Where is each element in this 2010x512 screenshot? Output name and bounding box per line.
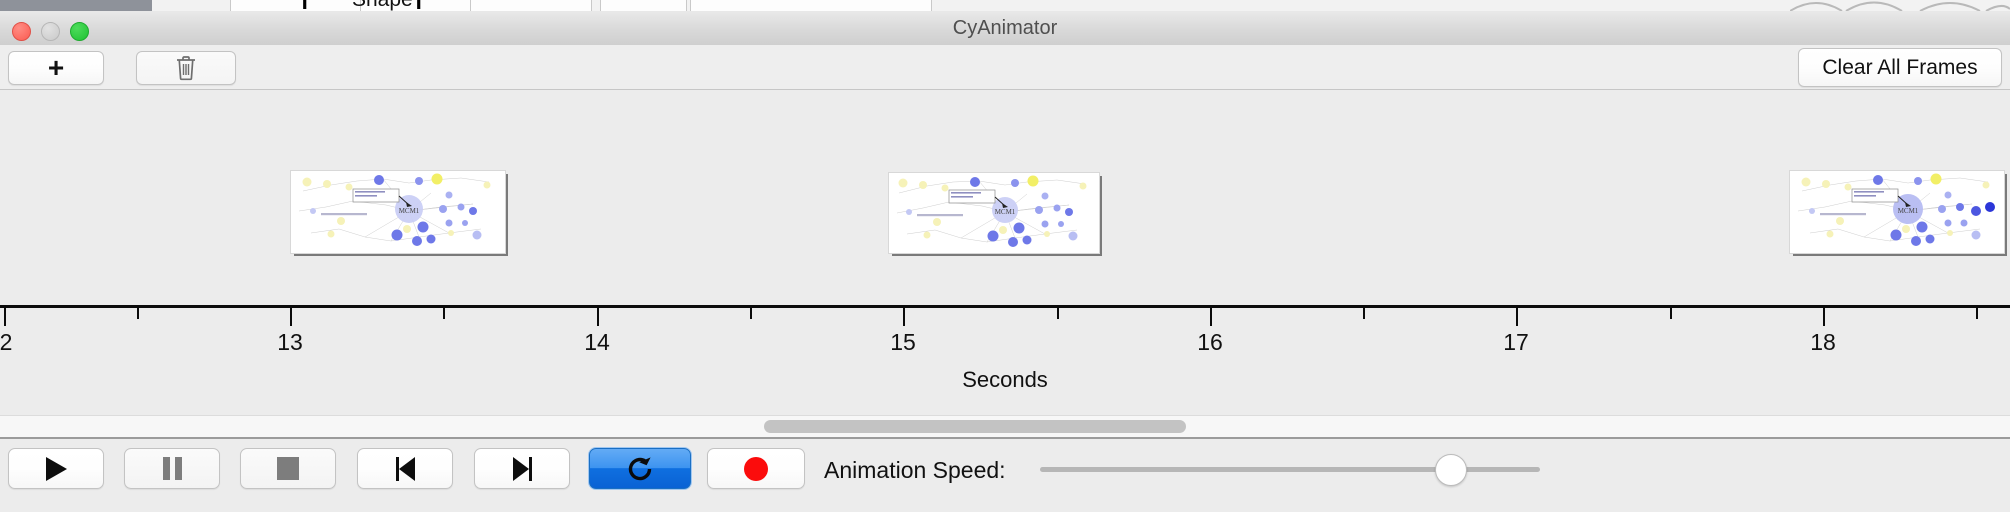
timeline-scrollbar[interactable]	[0, 415, 2010, 438]
axis-tick-major	[1823, 308, 1825, 326]
window-title: CyAnimator	[0, 11, 2010, 45]
axis-tick-major	[1516, 308, 1518, 326]
play-icon	[46, 457, 67, 481]
axis-tick-minor	[1363, 308, 1365, 319]
axis-tick-label: 2	[0, 329, 12, 356]
axis-tick-minor	[750, 308, 752, 319]
axis-tick-minor	[443, 308, 445, 319]
timeline-frame-3[interactable]: MCM1	[1789, 170, 2003, 252]
skip-forward-icon	[513, 457, 532, 481]
axis-tick-label: 18	[1810, 329, 1836, 356]
play-button[interactable]	[8, 448, 104, 489]
axis-title: Seconds	[0, 367, 2010, 393]
background-window-segment	[690, 0, 932, 11]
svg-text:MCM1: MCM1	[399, 207, 420, 215]
stop-button[interactable]	[240, 448, 336, 489]
background-window-segment	[470, 0, 592, 11]
timeline-frame-2[interactable]: MCM1	[888, 172, 1098, 252]
clear-all-frames-button[interactable]: Clear All Frames	[1798, 48, 2002, 87]
timeline-axis: 2 13 14 15 16 17 18 Seconds	[0, 305, 2010, 415]
background-window-segment	[600, 0, 687, 11]
axis-tick-label: 17	[1503, 329, 1529, 356]
network-thumbnail-icon: MCM1	[889, 173, 1099, 253]
add-frame-button[interactable]: +	[8, 51, 104, 85]
axis-tick-major	[1210, 308, 1212, 326]
pause-icon	[163, 457, 182, 480]
background-window-shape-label: Shape	[352, 0, 413, 11]
svg-text:MCM1: MCM1	[995, 208, 1016, 216]
svg-text:MCM1: MCM1	[1898, 207, 1919, 215]
animation-speed-label: Animation Speed:	[824, 457, 1006, 484]
axis-tick-label: 13	[277, 329, 303, 356]
frame-thumbnail: MCM1	[290, 170, 506, 254]
cyanimator-window: T T Shape CyAnimator +	[0, 0, 2010, 510]
timeline-panel: MCM1	[0, 90, 2010, 415]
pause-button[interactable]	[124, 448, 220, 489]
record-button[interactable]	[707, 448, 805, 489]
animation-speed-slider[interactable]	[1040, 467, 1540, 472]
axis-tick-minor	[1057, 308, 1059, 319]
skip-back-icon	[396, 457, 415, 481]
frame-thumbnail: MCM1	[1789, 170, 2005, 254]
axis-line	[0, 305, 2010, 308]
playback-control-bar: Animation Speed:	[0, 437, 2010, 512]
background-window-segment	[230, 0, 362, 11]
title-bar[interactable]: CyAnimator	[0, 11, 2010, 46]
loop-icon	[625, 454, 655, 484]
frame-thumbnail: MCM1	[888, 172, 1100, 254]
next-frame-button[interactable]	[474, 448, 570, 489]
delete-frame-button[interactable]	[136, 51, 236, 85]
network-thumbnail-icon: MCM1	[291, 171, 505, 253]
axis-tick-minor	[1976, 308, 1978, 319]
network-thumbnail-icon: MCM1	[1790, 171, 2004, 253]
axis-tick-minor	[1670, 308, 1672, 319]
background-network-arcs-icon	[1790, 0, 2010, 11]
background-window-glyph: T	[298, 0, 311, 11]
axis-tick-major	[4, 308, 6, 326]
toolbar: + Clear All Frames	[0, 45, 2010, 90]
axis-tick-label: 15	[890, 329, 916, 356]
axis-tick-major	[597, 308, 599, 326]
axis-tick-major	[290, 308, 292, 326]
timeline-frame-1[interactable]: MCM1	[290, 170, 504, 252]
background-window-glyph: T	[412, 0, 425, 11]
axis-tick-major	[903, 308, 905, 326]
axis-tick-label: 14	[584, 329, 610, 356]
slider-thumb[interactable]	[1435, 454, 1467, 486]
prev-frame-button[interactable]	[357, 448, 453, 489]
axis-tick-label: 16	[1197, 329, 1223, 356]
trash-icon	[175, 55, 197, 81]
axis-tick-minor	[137, 308, 139, 319]
background-window-dark-segment	[0, 0, 152, 11]
record-icon	[744, 457, 768, 481]
background-window-strip: T T Shape	[0, 0, 2010, 11]
stop-icon	[277, 457, 299, 480]
frames-area: MCM1	[0, 90, 2010, 305]
loop-button[interactable]	[589, 448, 691, 489]
scrollbar-thumb[interactable]	[764, 420, 1186, 433]
